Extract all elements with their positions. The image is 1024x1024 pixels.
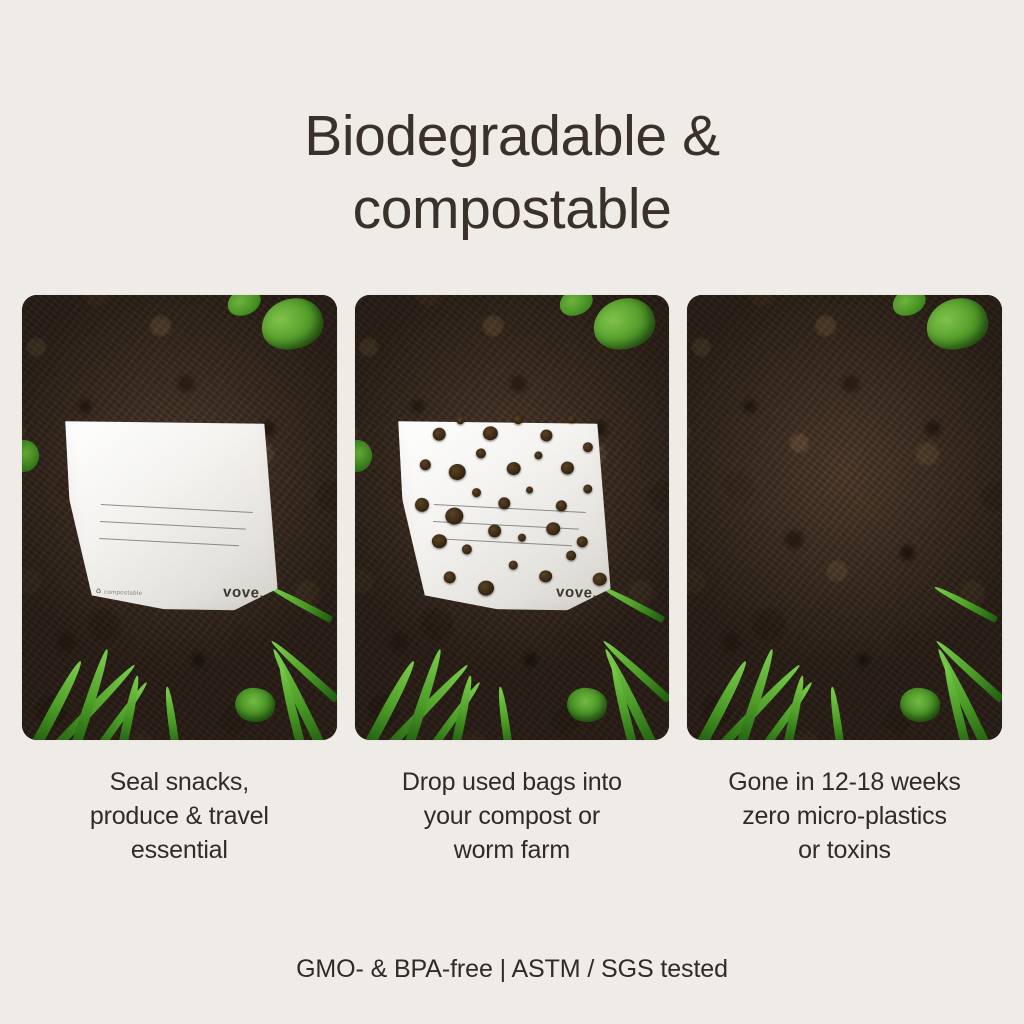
compostable-bag-decaying: vove. bbox=[393, 393, 620, 625]
image-panel-row: ♻compostable vove. bbox=[22, 295, 1002, 740]
caption-panel-1: Seal snacks, produce & travel essential bbox=[22, 765, 337, 867]
caption-row: Seal snacks, produce & travel essential … bbox=[22, 765, 1002, 867]
panel-empty-soil bbox=[687, 295, 1002, 740]
page-title: Biodegradable & compostable bbox=[0, 100, 1024, 246]
bag-compostable-label: ♻compostable bbox=[95, 587, 142, 597]
recycle-icon: ♻ bbox=[95, 587, 102, 595]
bag-compostable-text: compostable bbox=[104, 589, 143, 596]
caption-panel-3: Gone in 12-18 weeks zero micro-plastics … bbox=[687, 765, 1002, 867]
bag-brand-logo: vove. bbox=[555, 583, 597, 601]
panel-intact-bag: ♻compostable vove. bbox=[22, 295, 337, 740]
product-infographic: Biodegradable & compostable bbox=[0, 0, 1024, 1024]
bag-seal-lines bbox=[431, 504, 586, 564]
certification-footer: GMO- & BPA-free | ASTM / SGS tested bbox=[0, 955, 1024, 984]
bag-brand-logo: vove. bbox=[223, 583, 265, 601]
bag-seal-lines bbox=[99, 504, 254, 564]
caption-panel-2: Drop used bags into your compost or worm… bbox=[355, 765, 670, 867]
panel-decomposing-bag: vove. bbox=[355, 295, 670, 740]
compostable-bag: ♻compostable vove. bbox=[61, 393, 288, 625]
